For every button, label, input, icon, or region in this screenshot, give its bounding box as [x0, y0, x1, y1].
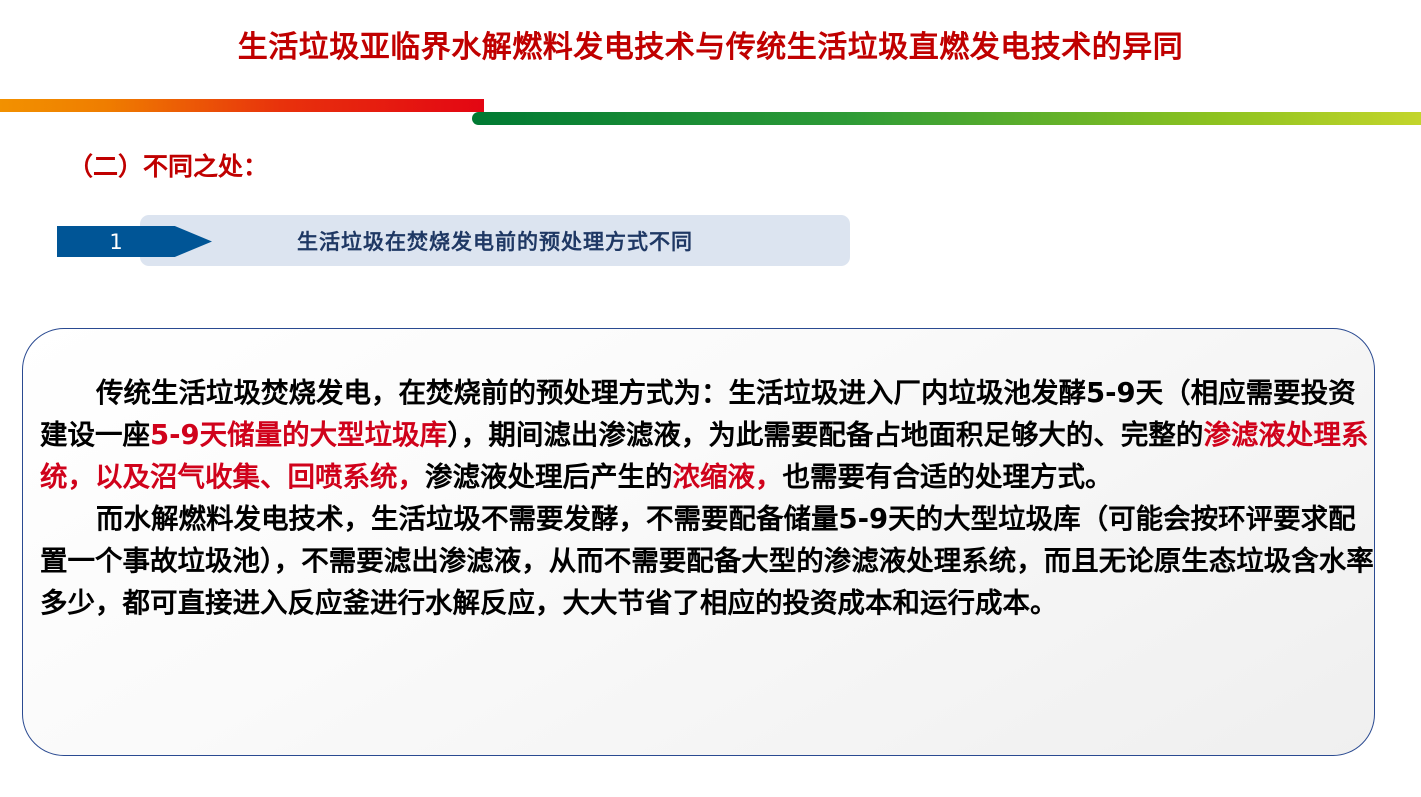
- banner-title-label: 生活垃圾在焚烧发电前的预处理方式不同: [140, 215, 850, 266]
- paragraph-traditional: 传统生活垃圾焚烧发电，在焚烧前的预处理方式为：生活垃圾进入厂内垃圾池发酵5-9天…: [40, 372, 1380, 498]
- paragraph-hydrolysis: 而水解燃料发电技术，生活垃圾不需要发酵，不需要配备储量5-9天的大型垃圾库（可能…: [40, 498, 1380, 624]
- orange-red-gradient-bar: [0, 99, 484, 112]
- paragraph1-segment-3: ），期间滤出渗滤液，为此需要配备占地面积足够大的、完整的: [447, 419, 1203, 451]
- green-yellow-gradient-bar: [472, 112, 1421, 125]
- paragraph1-highlight-1: 5-9天储量的大型垃圾库: [150, 419, 447, 451]
- paragraph2-segment-1: 而水解燃料发电技术，生活垃圾不需要发酵，不需要配备储量5-9天的大型垃圾库（可能…: [40, 503, 1374, 619]
- paragraph1-highlight-3: 浓缩液，: [673, 461, 783, 493]
- content-body: 传统生活垃圾焚烧发电，在焚烧前的预处理方式为：生活垃圾进入厂内垃圾池发酵5-9天…: [40, 372, 1380, 624]
- paragraph1-segment-5: 渗滤液处理后产生的: [425, 461, 673, 493]
- section-heading: （二）不同之处：: [68, 147, 268, 183]
- page-title: 生活垃圾亚临界水解燃料发电技术与传统生活垃圾直燃发电技术的异同: [0, 22, 1421, 66]
- paragraph1-segment-7: 也需要有合适的处理方式。: [783, 461, 1113, 493]
